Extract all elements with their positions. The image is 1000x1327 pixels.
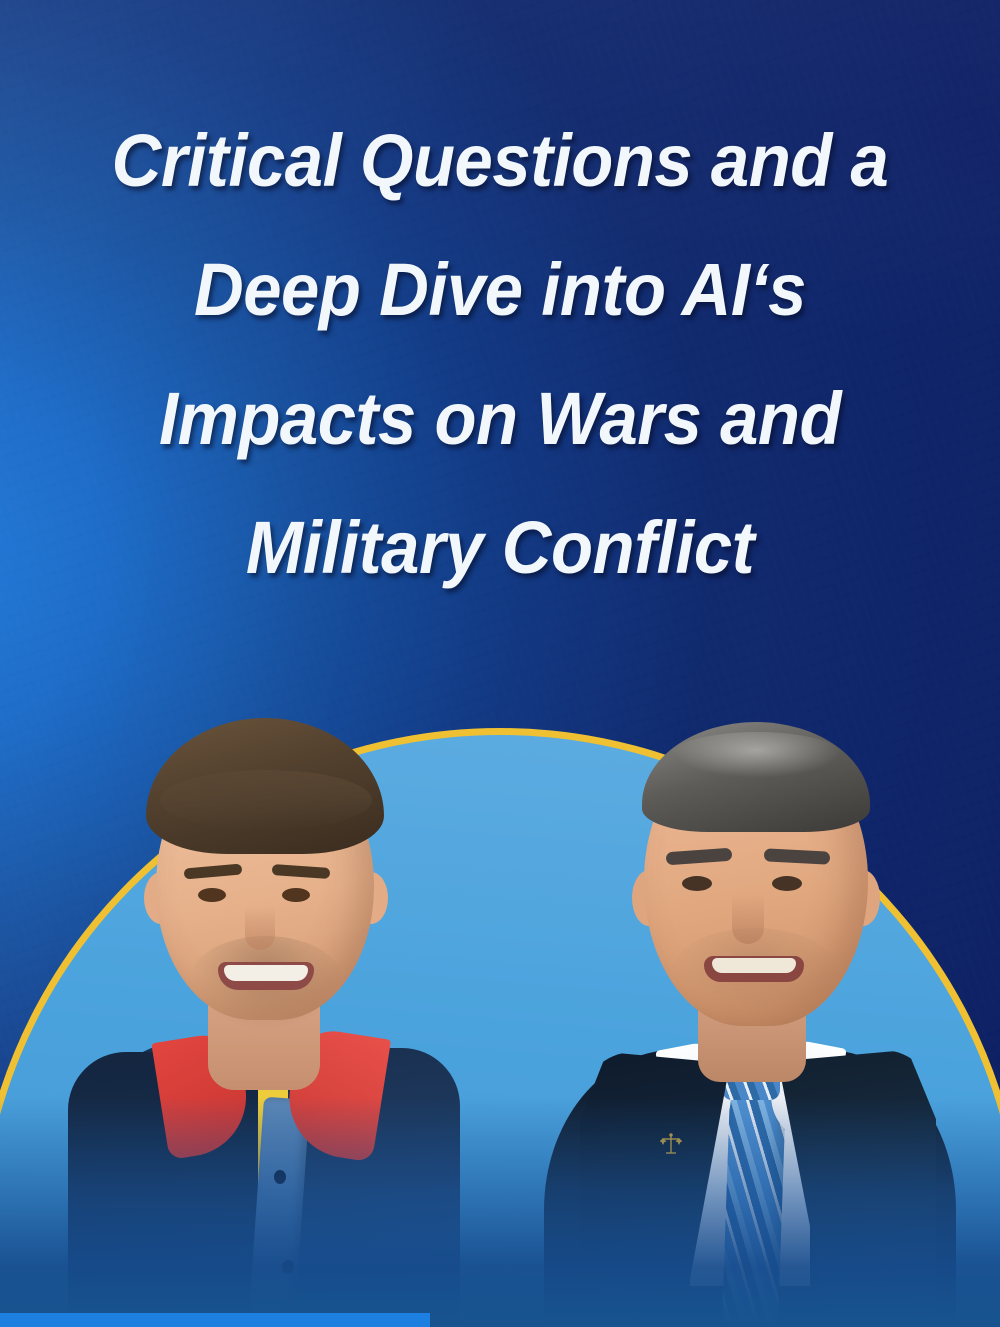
- right-speaker-eye-right: [772, 876, 802, 891]
- title-line-3: Impacts on Wars and: [57, 354, 942, 483]
- left-speaker-eye-left: [198, 888, 226, 902]
- right-speaker-hair: [642, 722, 870, 832]
- bottom-accent-bar: [0, 1313, 430, 1327]
- left-speaker-mouth: [218, 962, 314, 990]
- bottom-fade-overlay: [0, 1097, 1000, 1327]
- title-line-1: Critical Questions and a: [57, 96, 942, 225]
- left-speaker-hair: [146, 718, 384, 854]
- title-card-canvas: Critical Questions and a Deep Dive into …: [0, 0, 1000, 1327]
- left-speaker-eye-right: [282, 888, 310, 902]
- right-speaker-teeth: [712, 958, 796, 973]
- right-speaker-mouth: [704, 956, 804, 982]
- left-speaker-nose: [245, 906, 275, 950]
- title-line-2: Deep Dive into AI‘s: [57, 225, 942, 354]
- page-title: Critical Questions and a Deep Dive into …: [0, 96, 1000, 612]
- left-speaker-teeth: [224, 965, 308, 981]
- right-speaker-nose: [732, 894, 764, 944]
- right-speaker-eye-left: [682, 876, 712, 891]
- title-line-4: Military Conflict: [57, 483, 942, 612]
